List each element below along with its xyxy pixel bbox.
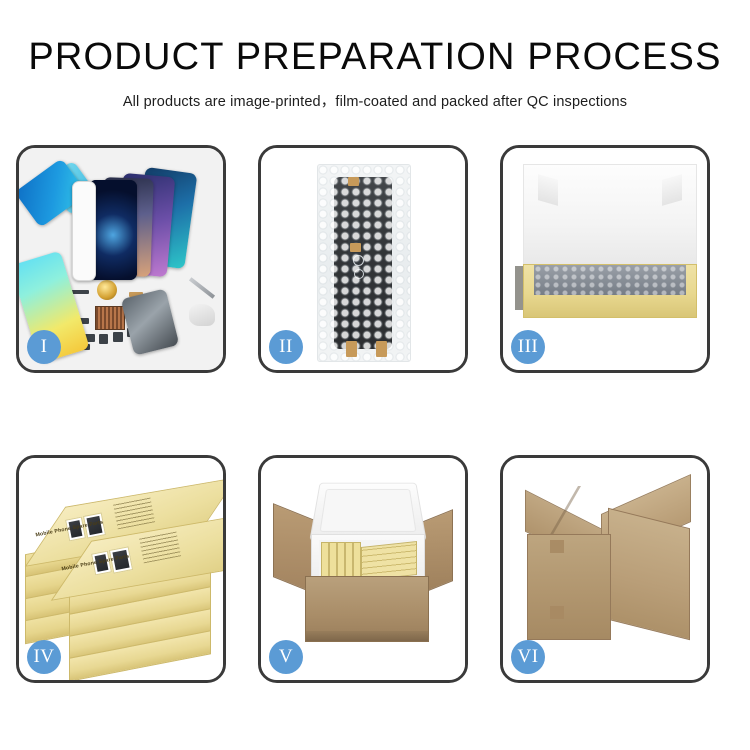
page-title: PRODUCT PREPARATION PROCESS [0,38,750,76]
camera-ring-icon [353,255,364,266]
page-header: PRODUCT PREPARATION PROCESS All products… [0,0,750,111]
retail-boxes-left-icon [321,542,361,577]
process-step-panel-6[interactable]: VI [500,455,710,683]
carton-front-face-icon [527,534,611,640]
tape-piece-icon [376,341,387,357]
step-badge-1: I [27,330,61,364]
carton-side-face-icon [608,508,690,640]
step-badge-2: II [269,330,303,364]
white-box-lid-icon [523,164,697,272]
tape-piece-icon [348,177,359,186]
phone-display-dark-icon [89,180,137,280]
tweezers-icon [173,286,221,336]
step-badge-6: VI [511,640,545,674]
bubble-wrap-bag-icon [317,164,411,362]
process-step-grid: I II [16,145,734,683]
process-step-panel-4[interactable]: Mobile Phone Spare Parts Mobile Phone Sp… [16,455,226,683]
screen-glass-icon [72,181,96,281]
step-badge-3: III [511,330,545,364]
tape-piece-icon [346,341,357,357]
kraft-box-base-icon [523,264,697,318]
gold-coil-icon [97,280,117,300]
process-step-panel-3[interactable]: III [500,145,710,373]
process-step-panel-5[interactable]: V [258,455,468,683]
step-badge-5: V [269,640,303,674]
foam-lid-icon [309,483,426,541]
chip-grid-icon [95,306,125,330]
carton-body-icon [305,576,429,642]
process-step-panel-2[interactable]: II [258,145,468,373]
lcd-screen-icon [334,177,392,349]
carton-tape-upper-icon [550,540,564,553]
retail-boxes-right-icon [361,541,417,581]
carton-tape-lower-icon [550,606,564,619]
page-subtitle: All products are image-printed，film-coat… [0,90,750,111]
speaker-ring-icon [354,269,364,279]
grey-foam-icon [534,265,686,295]
tape-piece-icon [350,243,361,252]
step-badge-4: IV [27,640,61,674]
process-step-panel-1[interactable]: I [16,145,226,373]
